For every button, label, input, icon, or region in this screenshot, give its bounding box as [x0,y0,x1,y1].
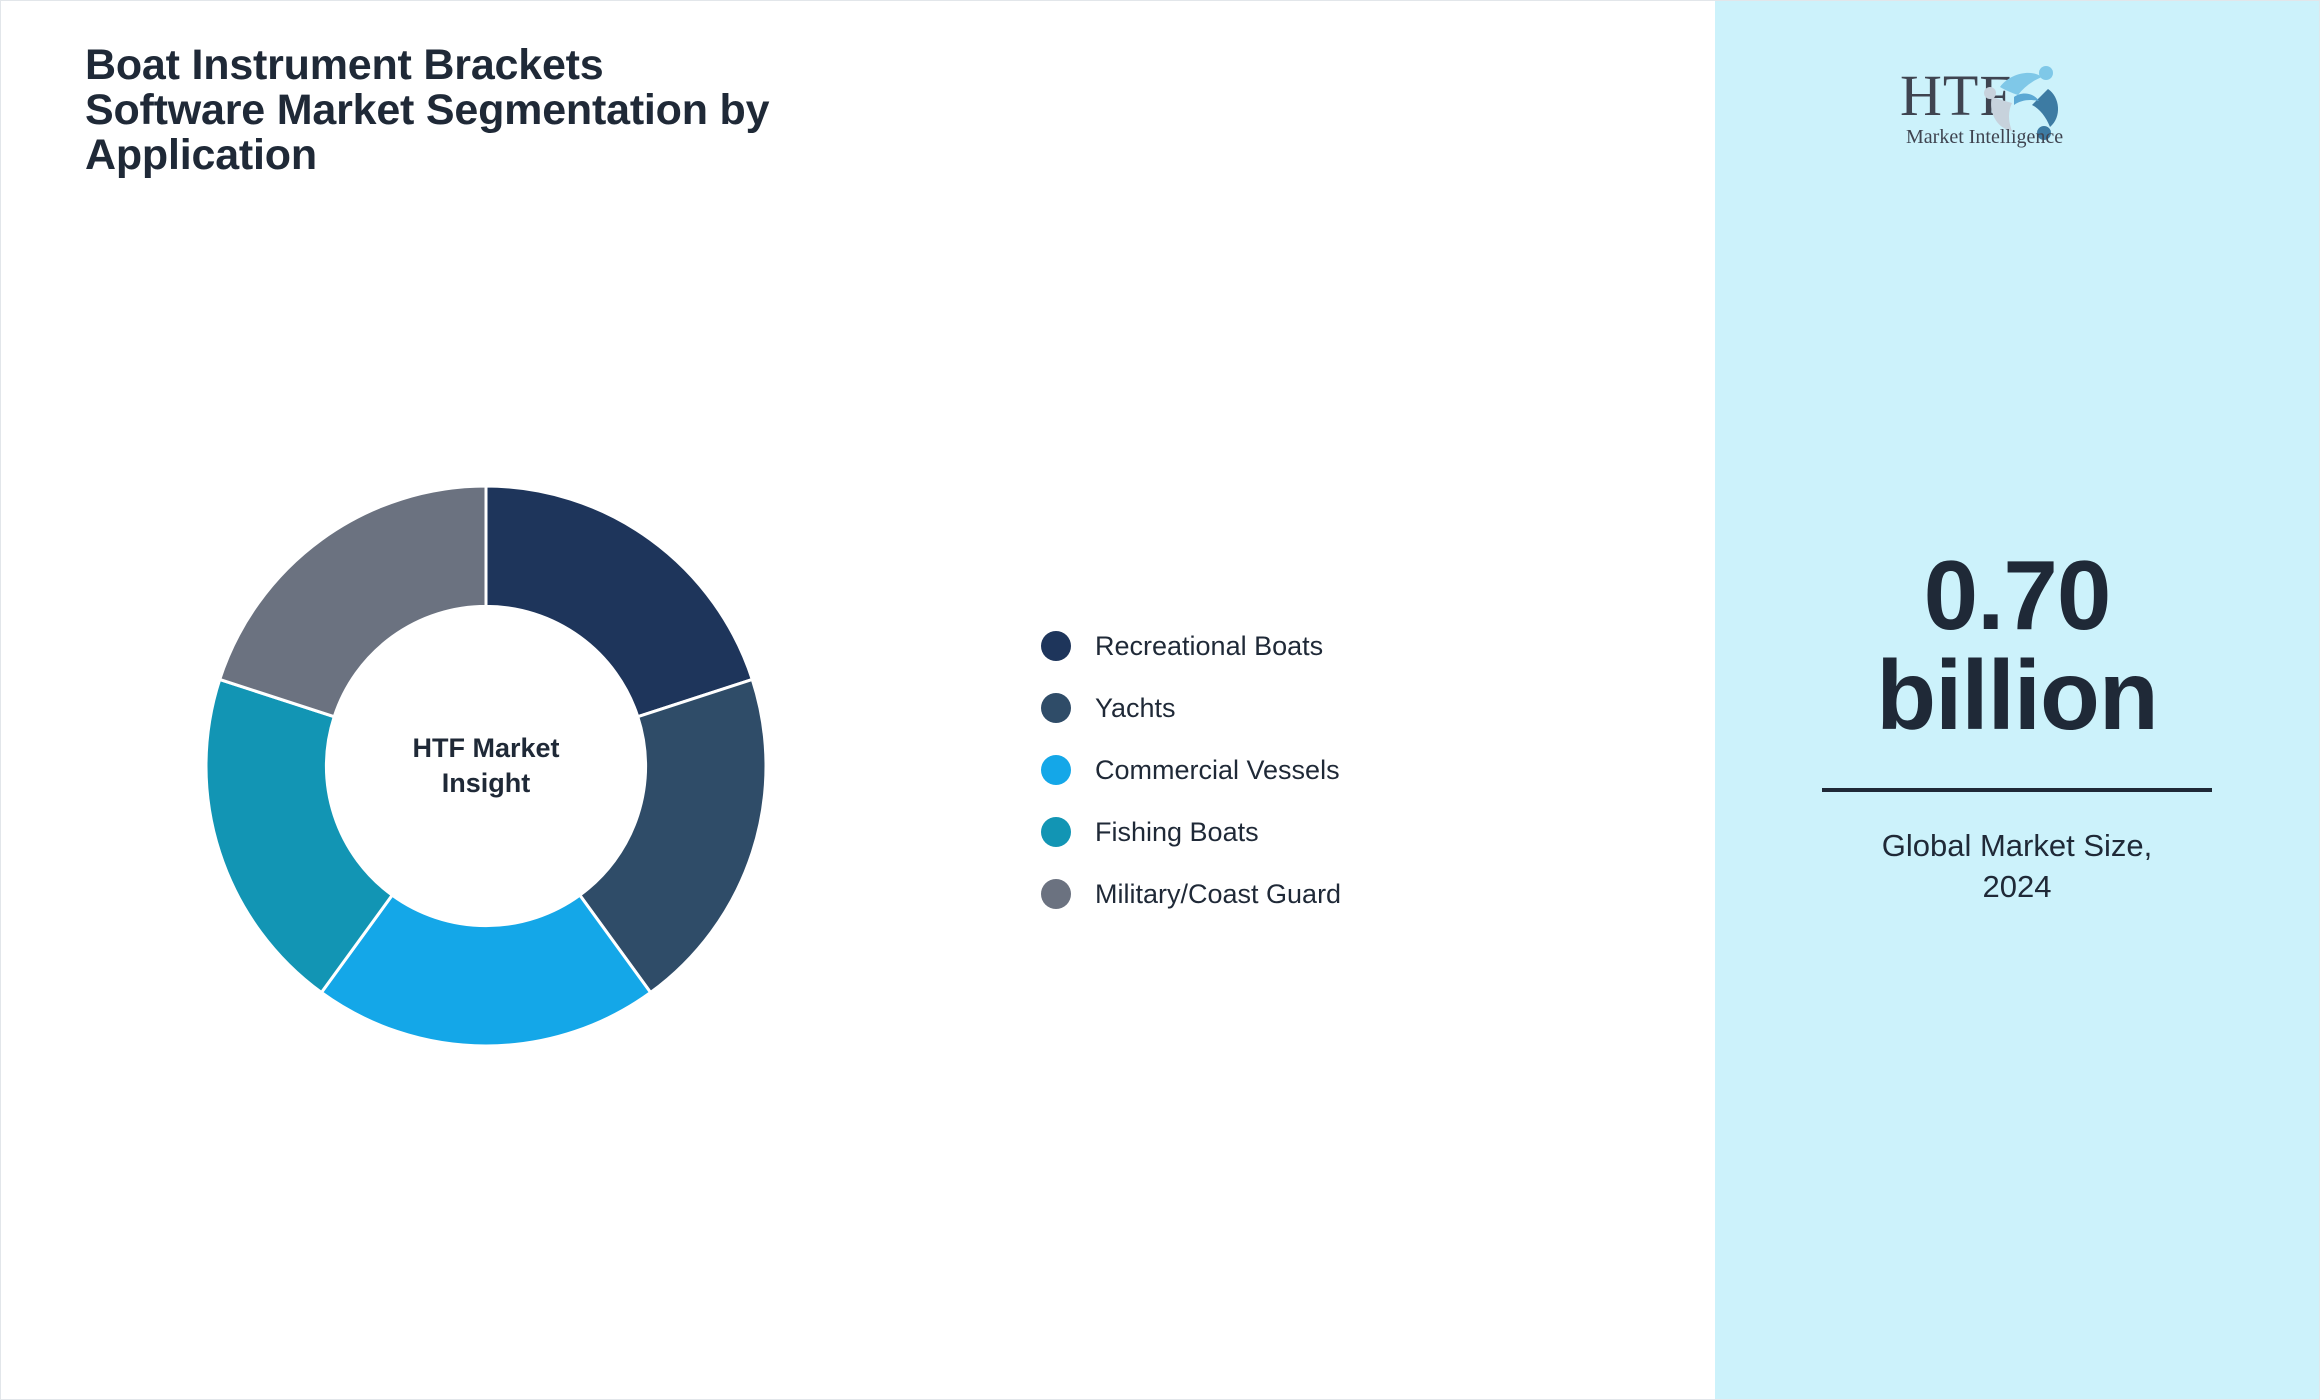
legend-item[interactable]: Commercial Vessels [1041,739,1341,801]
legend-item-label: Yachts [1095,693,1176,724]
donut-chart: HTF Market Insight [206,486,766,1046]
donut-slices [206,486,766,1046]
legend-swatch-icon [1041,817,1071,847]
legend-swatch-icon [1041,879,1071,909]
chart-panel: Boat Instrument Brackets Software Market… [1,1,1715,1399]
infographic-root: Boat Instrument Brackets Software Market… [0,0,2320,1400]
stat-caption: Global Market Size, 2024 [1802,826,2232,908]
legend-item-label: Military/Coast Guard [1095,879,1341,910]
htf-logo: HTF Market Intelligence [1892,53,2142,149]
title-block: Boat Instrument Brackets Software Market… [85,43,1065,178]
donut-chart-svg [206,486,766,1046]
stat-sidebar: HTF Market Intelligence [1715,1,2319,1399]
legend-item-label: Recreational Boats [1095,631,1323,662]
chart-legend: Recreational BoatsYachtsCommercial Vesse… [1041,615,1341,925]
page-title: Boat Instrument Brackets Software Market… [85,43,1065,178]
legend-item[interactable]: Military/Coast Guard [1041,863,1341,925]
legend-swatch-icon [1041,693,1071,723]
legend-item[interactable]: Fishing Boats [1041,801,1341,863]
stat-block: 0.70 billion Global Market Size, 2024 [1802,546,2232,908]
stat-value: 0.70 billion [1802,546,2232,746]
htf-logo-subtitle: Market Intelligence [1906,126,2063,148]
legend-item-label: Commercial Vessels [1095,755,1340,786]
legend-swatch-icon [1041,755,1071,785]
stat-divider [1822,788,2212,792]
legend-item-label: Fishing Boats [1095,817,1259,848]
legend-item[interactable]: Yachts [1041,677,1341,739]
legend-swatch-icon [1041,631,1071,661]
htf-logo-icon: HTF Market Intelligence [1892,53,2142,149]
donut-slice[interactable] [220,486,486,717]
donut-slice[interactable] [486,486,752,717]
legend-item[interactable]: Recreational Boats [1041,615,1341,677]
